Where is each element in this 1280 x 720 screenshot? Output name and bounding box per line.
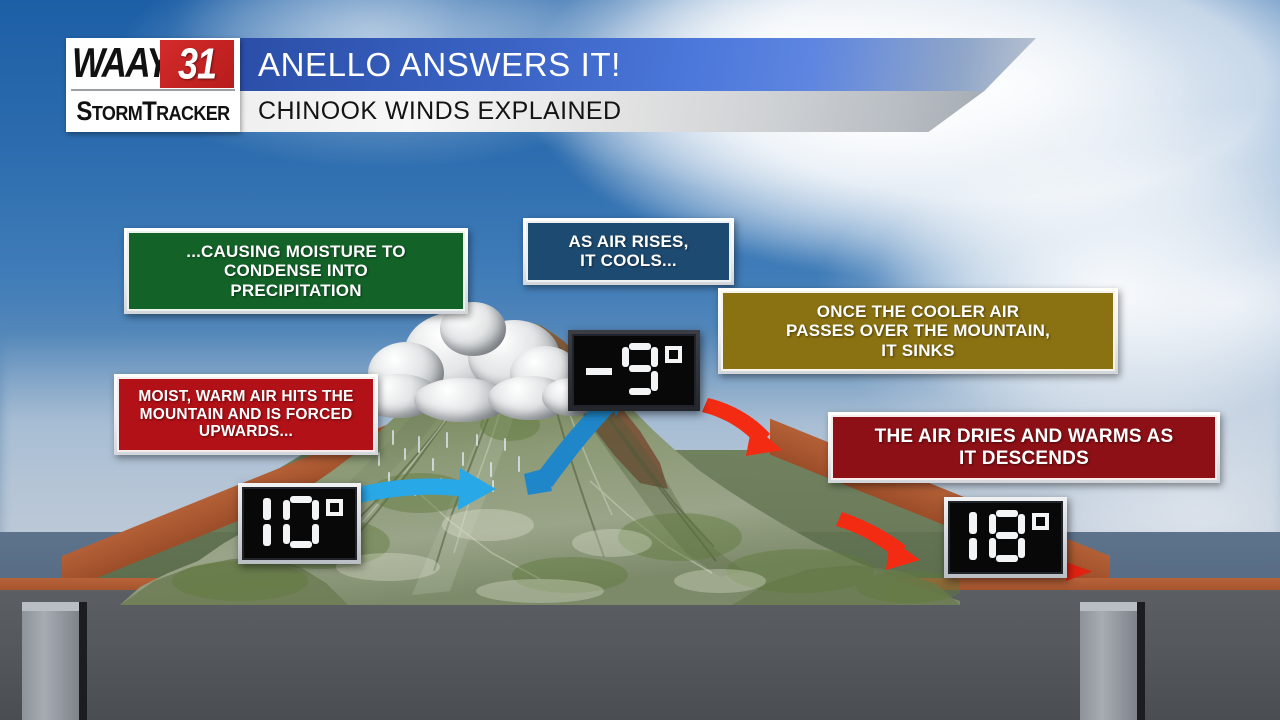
digit-zero: [281, 495, 321, 549]
channel-number: 31: [178, 39, 216, 89]
platform-post-left: [22, 602, 80, 720]
degree-icon: [326, 499, 343, 516]
callout-text: AS AIR RISES, IT COOLS...: [526, 221, 731, 282]
platform-post-right: [1080, 602, 1138, 720]
temperature-leeward-base: [944, 497, 1067, 578]
callout-moist-warm-air: MOIST, WARM AIR HITS THE MOUNTAIN AND IS…: [114, 374, 378, 455]
digit-nine: [620, 342, 660, 396]
callout-condense-precip: ...CAUSING MOISTURE TO CONDENSE INTO PRE…: [124, 228, 468, 314]
page-title: ANELLO ANSWERS IT!: [258, 41, 621, 89]
degree-icon: [665, 346, 682, 363]
temperature-windward-base: [238, 483, 361, 564]
callout-dries-and-warms: THE AIR DRIES AND WARMS AS IT DESCENDS: [828, 412, 1220, 483]
station-logo: WAAY 31 STORMTRACKER: [66, 38, 240, 132]
callout-text: MOIST, WARM AIR HITS THE MOUNTAIN AND IS…: [117, 377, 375, 452]
digit-one: [256, 495, 278, 549]
brand-line: STORMTRACKER: [76, 96, 229, 127]
callout-text: ONCE THE COOLER AIR PASSES OVER THE MOUN…: [721, 291, 1115, 371]
digit-one: [962, 509, 984, 563]
weather-graphic-stage: ...CAUSING MOISTURE TO CONDENSE INTO PRE…: [0, 0, 1280, 720]
digit-eight: [987, 509, 1027, 563]
page-subtitle: CHINOOK WINDS EXPLAINED: [258, 92, 621, 131]
callout-text: ...CAUSING MOISTURE TO CONDENSE INTO PRE…: [127, 231, 465, 311]
callout-text: THE AIR DRIES AND WARMS AS IT DESCENDS: [831, 415, 1217, 480]
callout-cooler-air-sinks: ONCE THE COOLER AIR PASSES OVER THE MOUN…: [718, 288, 1118, 374]
station-letters: WAAY: [72, 40, 168, 87]
degree-icon: [1032, 513, 1049, 530]
temperature-summit: [568, 330, 700, 411]
channel-number-badge: 31: [160, 40, 234, 88]
broadcast-header: ANELLO ANSWERS IT! CHINOOK WINDS EXPLAIN…: [66, 38, 1036, 132]
callout-air-rises-cools: AS AIR RISES, IT COOLS...: [523, 218, 734, 285]
minus-sign-icon: [586, 368, 612, 375]
cumulus-cloud: [352, 318, 602, 430]
